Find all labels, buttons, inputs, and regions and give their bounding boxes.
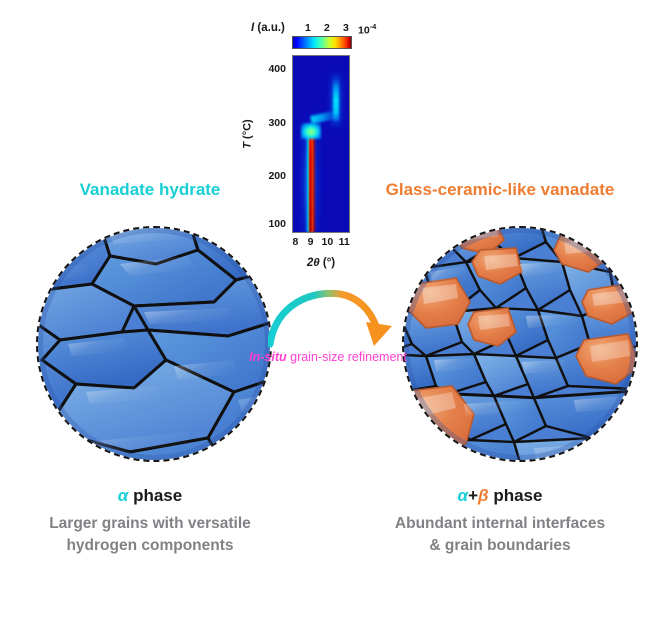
colorbar-tick-labels: 1 2 3 10-4 bbox=[292, 22, 404, 35]
y-tick-300: 300 bbox=[268, 117, 286, 129]
heatmap-y-ticks: 400 300 200 100 bbox=[253, 55, 289, 233]
heatmap-y-axis-label: T (°C) bbox=[242, 119, 254, 148]
alpha-grain-svg bbox=[38, 228, 270, 460]
heatmap-x-axis-label: 2θ (°) bbox=[292, 257, 350, 269]
transition-knot bbox=[301, 123, 321, 139]
right-caption-line-1: Abundant internal interfaces bbox=[350, 513, 650, 535]
right-phase-word: phase bbox=[489, 486, 543, 505]
alpha-symbol: α bbox=[118, 486, 129, 505]
x-tick-9: 9 bbox=[308, 236, 314, 248]
left-panel-caption: Larger grains with versatile hydrogen co… bbox=[0, 513, 300, 558]
plus-symbol: + bbox=[468, 486, 478, 505]
colorbar-exponent: 10-4 bbox=[358, 22, 376, 37]
left-phase-word: phase bbox=[128, 486, 182, 505]
colorbar-label: I (a.u.) bbox=[251, 22, 285, 34]
arrow-caption-rest: grain-size refinement bbox=[287, 350, 407, 364]
left-caption-line-1: Larger grains with versatile bbox=[0, 513, 300, 535]
beta-branch bbox=[333, 79, 339, 121]
heatmap-canvas bbox=[292, 55, 350, 233]
transition-arrow-svg bbox=[268, 288, 394, 350]
xrd-heatmap-inset: I (a.u.) 1 2 3 10-4 400 300 200 100 T (°… bbox=[243, 10, 413, 282]
left-panel-title: Vanadate hydrate bbox=[0, 180, 300, 200]
alpha-beta-phase-microstructure bbox=[404, 228, 636, 460]
y-tick-400: 400 bbox=[268, 63, 286, 75]
alpha-phase-microstructure bbox=[38, 228, 270, 460]
colorbar-tick-2: 2 bbox=[324, 22, 330, 34]
left-caption-line-2: hydrogen components bbox=[0, 535, 300, 557]
heatmap-x-ticks: 8 9 10 11 bbox=[292, 236, 350, 250]
x-tick-8: 8 bbox=[293, 236, 299, 248]
y-tick-100: 100 bbox=[268, 218, 286, 230]
x-tick-11: 11 bbox=[339, 236, 350, 248]
left-phase-label: α phase bbox=[0, 486, 300, 506]
heatmap-plot-area bbox=[292, 55, 350, 233]
transition-arrow bbox=[268, 288, 394, 350]
right-panel-title: Glass-ceramic-like vanadate bbox=[350, 180, 650, 200]
right-phase-label: α+β phase bbox=[350, 486, 650, 506]
arrow-caption-italic: In-situ bbox=[249, 350, 287, 364]
alpha-symbol: α bbox=[458, 486, 469, 505]
colorbar-tick-1: 1 bbox=[305, 22, 311, 34]
colorbar-tick-3: 3 bbox=[343, 22, 349, 34]
alpha-streak-core bbox=[309, 133, 312, 232]
alpha-beta-grain-svg bbox=[404, 228, 636, 460]
x-tick-10: 10 bbox=[322, 236, 334, 248]
colorbar-gradient bbox=[292, 36, 352, 49]
beta-inclusion bbox=[614, 238, 636, 278]
arrow-caption: In-situ grain-size refinement bbox=[218, 350, 438, 364]
right-caption-line-2: & grain boundaries bbox=[350, 535, 650, 557]
beta-symbol: β bbox=[478, 486, 489, 505]
right-panel-caption: Abundant internal interfaces & grain bou… bbox=[350, 513, 650, 558]
